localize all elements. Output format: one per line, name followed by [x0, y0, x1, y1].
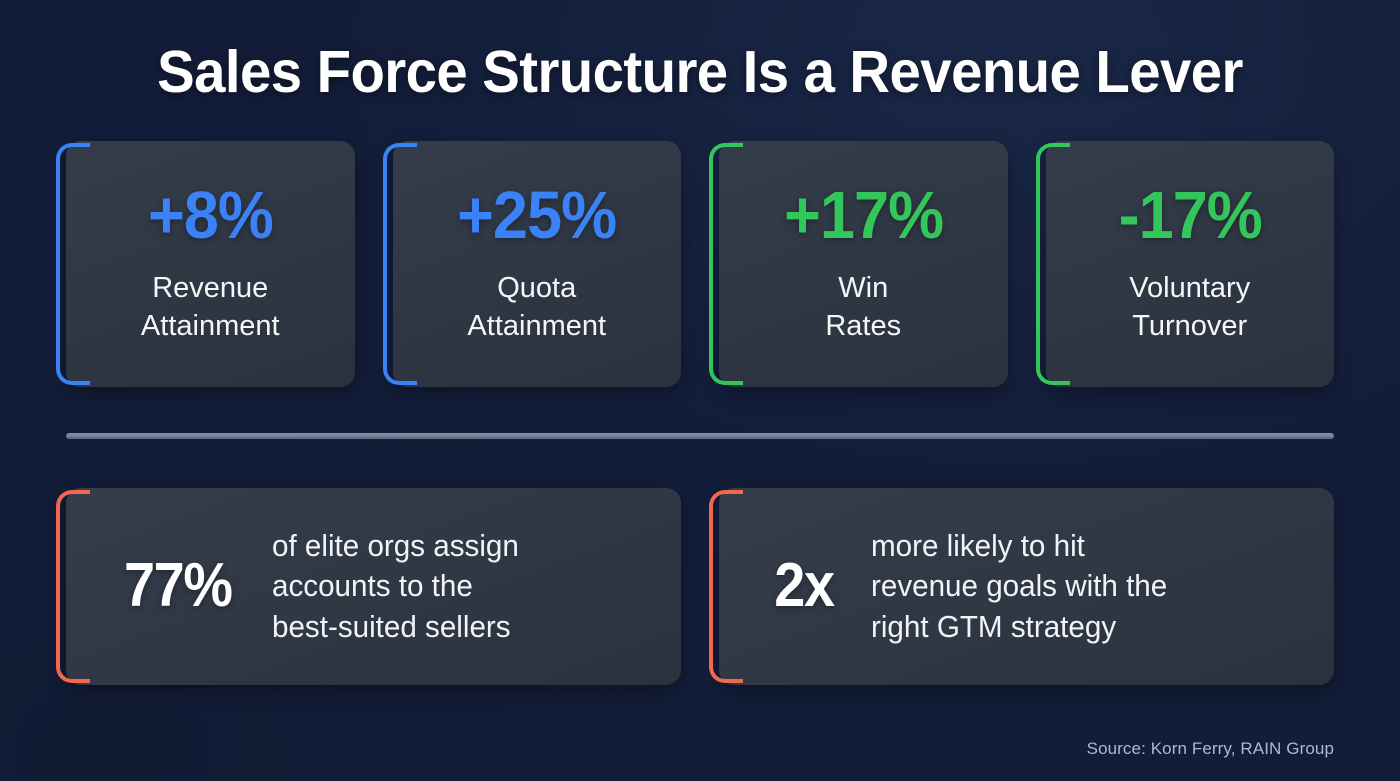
source-attribution: Source: Korn Ferry, RAIN Group [1087, 739, 1334, 759]
stat-label-line-1: Win [825, 269, 901, 308]
fact-description: more likely to hit revenue goals with th… [871, 526, 1167, 648]
stat-label: Quota Attainment [467, 269, 606, 346]
fact-card-gtm-strategy: 2x more likely to hit revenue goals with… [719, 488, 1334, 685]
fact-text-line-3: best-suited sellers [272, 607, 519, 648]
stat-label-line-2: Turnover [1129, 307, 1250, 346]
accent-bar-coral [56, 490, 90, 683]
fact-text-line-2: revenue goals with the [871, 566, 1167, 607]
fact-description: of elite orgs assign accounts to the bes… [272, 526, 519, 648]
stat-card-revenue-attainment: +8% Revenue Attainment [66, 141, 355, 387]
stat-label: Revenue Attainment [141, 269, 280, 346]
fact-text-line-1: more likely to hit [871, 526, 1167, 567]
stat-label-line-1: Revenue [141, 269, 280, 308]
stat-label-line-1: Voluntary [1129, 269, 1250, 308]
accent-bar-blue [383, 143, 417, 385]
accent-bar-green [709, 143, 743, 385]
fact-card-row: 77% of elite orgs assign accounts to the… [66, 488, 1334, 685]
stat-card-quota-attainment: +25% Quota Attainment [393, 141, 682, 387]
stat-label-line-2: Rates [825, 307, 901, 346]
stat-value: -17% [1118, 182, 1261, 249]
fact-text-line-2: accounts to the [272, 566, 519, 607]
accent-bar-green [1036, 143, 1070, 385]
stat-label: Win Rates [825, 269, 901, 346]
stat-label: Voluntary Turnover [1129, 269, 1250, 346]
page-title: Sales Force Structure Is a Revenue Lever [95, 42, 1306, 104]
stat-value: +8% [148, 182, 273, 249]
fact-card-elite-orgs: 77% of elite orgs assign accounts to the… [66, 488, 681, 685]
stat-card-win-rates: +17% Win Rates [719, 141, 1008, 387]
stat-label-line-2: Attainment [141, 307, 280, 346]
infographic-slide: Sales Force Structure Is a Revenue Lever… [0, 0, 1400, 781]
accent-bar-blue [56, 143, 90, 385]
stat-card-row: +8% Revenue Attainment +25% Quota Attain… [66, 141, 1334, 387]
fact-value: 2x [774, 555, 833, 617]
fact-text-line-3: right GTM strategy [871, 607, 1167, 648]
fact-value: 77% [124, 555, 232, 617]
section-divider [66, 433, 1334, 439]
accent-bar-coral [709, 490, 743, 683]
stat-card-voluntary-turnover: -17% Voluntary Turnover [1046, 141, 1335, 387]
stat-value: +17% [784, 182, 943, 249]
fact-text-line-1: of elite orgs assign [272, 526, 519, 567]
stat-label-line-2: Attainment [467, 307, 606, 346]
stat-label-line-1: Quota [467, 269, 606, 308]
stat-value: +25% [457, 182, 616, 249]
